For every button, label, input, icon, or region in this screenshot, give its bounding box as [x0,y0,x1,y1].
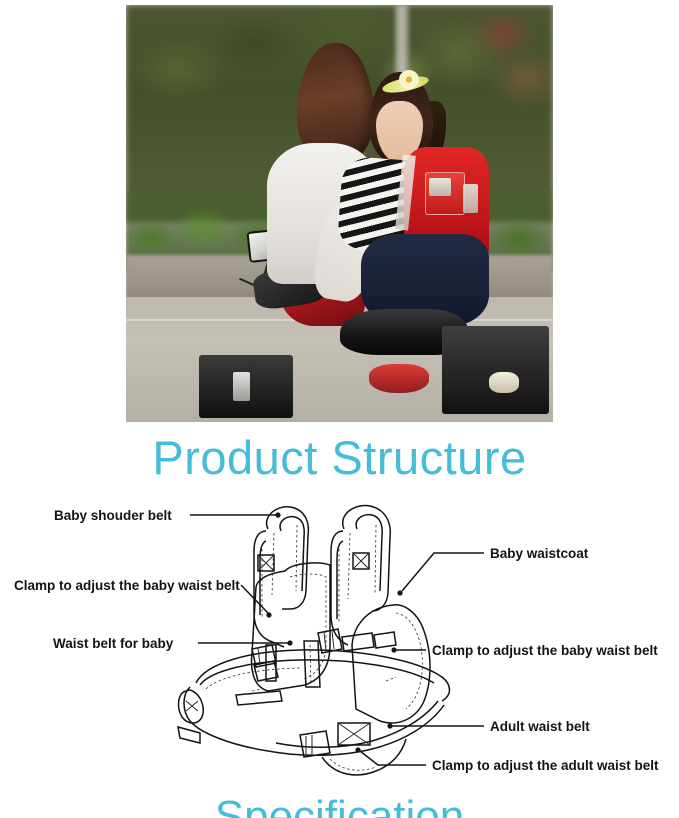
page-title: Product Structure [0,433,679,482]
label-waist-belt-for-baby: Waist belt for baby [53,636,174,651]
harness-line-art [178,506,450,775]
label-group-left: Baby shouder belt Clamp to adjust the ba… [14,508,293,651]
anchor-waist-belt-for-baby [287,640,292,645]
anchor-adult-waist-belt [387,723,392,728]
anchor-clamp-baby-waist-belt-right [391,647,396,652]
label-clamp-baby-waist-belt-left: Clamp to adjust the baby waist belt [14,578,240,593]
label-adult-waist-belt: Adult waist belt [490,719,590,734]
anchor-clamp-baby-waist-belt-left [266,612,271,617]
child-headband-flower [399,70,419,89]
motorcycle-pannier-right [442,326,549,414]
anchor-baby-waistcoat [397,590,402,595]
vest-logo-patch [429,178,451,196]
motorcycle-taillight [369,364,429,393]
anchor-clamp-adult-waist-belt [355,747,360,752]
motorcycle-indicator [489,372,519,393]
pannier-latch [233,372,250,401]
next-section-title: Specification [0,795,679,818]
product-photo [126,5,553,422]
anchor-baby-shoulder-belt [275,512,280,517]
label-baby-shoulder-belt: Baby shouder belt [54,508,172,523]
vest-reflective-strip [463,184,478,213]
structure-diagram: Baby shouder belt Clamp to adjust the ba… [0,495,679,795]
label-clamp-baby-waist-belt-right: Clamp to adjust the baby waist belt [432,643,658,658]
label-clamp-adult-waist-belt: Clamp to adjust the adult waist belt [432,758,659,773]
label-baby-waistcoat: Baby waistcoat [490,546,589,561]
